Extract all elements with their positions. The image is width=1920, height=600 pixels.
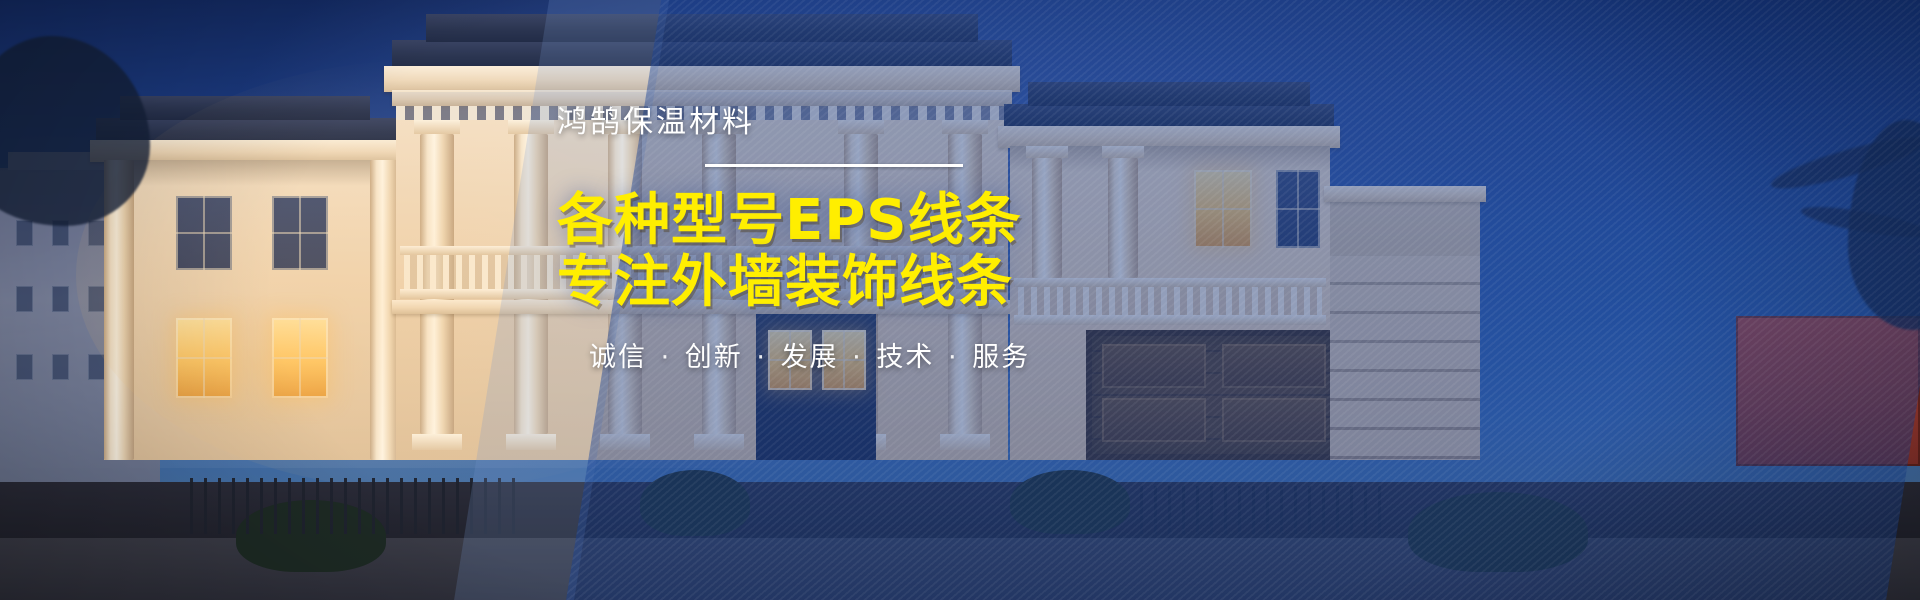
headline-line-2: 专注外墙装饰线条: [557, 252, 1077, 314]
tagline-separator: ·: [658, 342, 675, 373]
tagline-item: 技术: [876, 342, 934, 373]
tagline-item: 诚信: [589, 342, 647, 373]
tagline-separator: ·: [849, 342, 866, 373]
company-name: 鸿鹄保温材料: [557, 104, 1077, 142]
headline: 各种型号EPS线条 专注外墙装饰线条: [557, 190, 1077, 314]
tagline: 诚信 · 创新 · 发展 · 技术 · 服务: [589, 340, 1077, 375]
headline-line-1: 各种型号EPS线条: [557, 190, 1077, 252]
title-divider: [705, 164, 963, 167]
tagline-item: 发展: [781, 342, 839, 373]
hero-banner: 鸿鹄保温材料 各种型号EPS线条 专注外墙装饰线条 诚信 · 创新 · 发展 ·…: [0, 0, 1920, 600]
banner-copy: 鸿鹄保温材料 各种型号EPS线条 专注外墙装饰线条 诚信 · 创新 · 发展 ·…: [557, 104, 1077, 375]
tagline-separator: ·: [753, 342, 770, 373]
tagline-item: 创新: [685, 342, 743, 373]
tagline-separator: ·: [945, 342, 962, 373]
tagline-item: 服务: [972, 342, 1030, 373]
